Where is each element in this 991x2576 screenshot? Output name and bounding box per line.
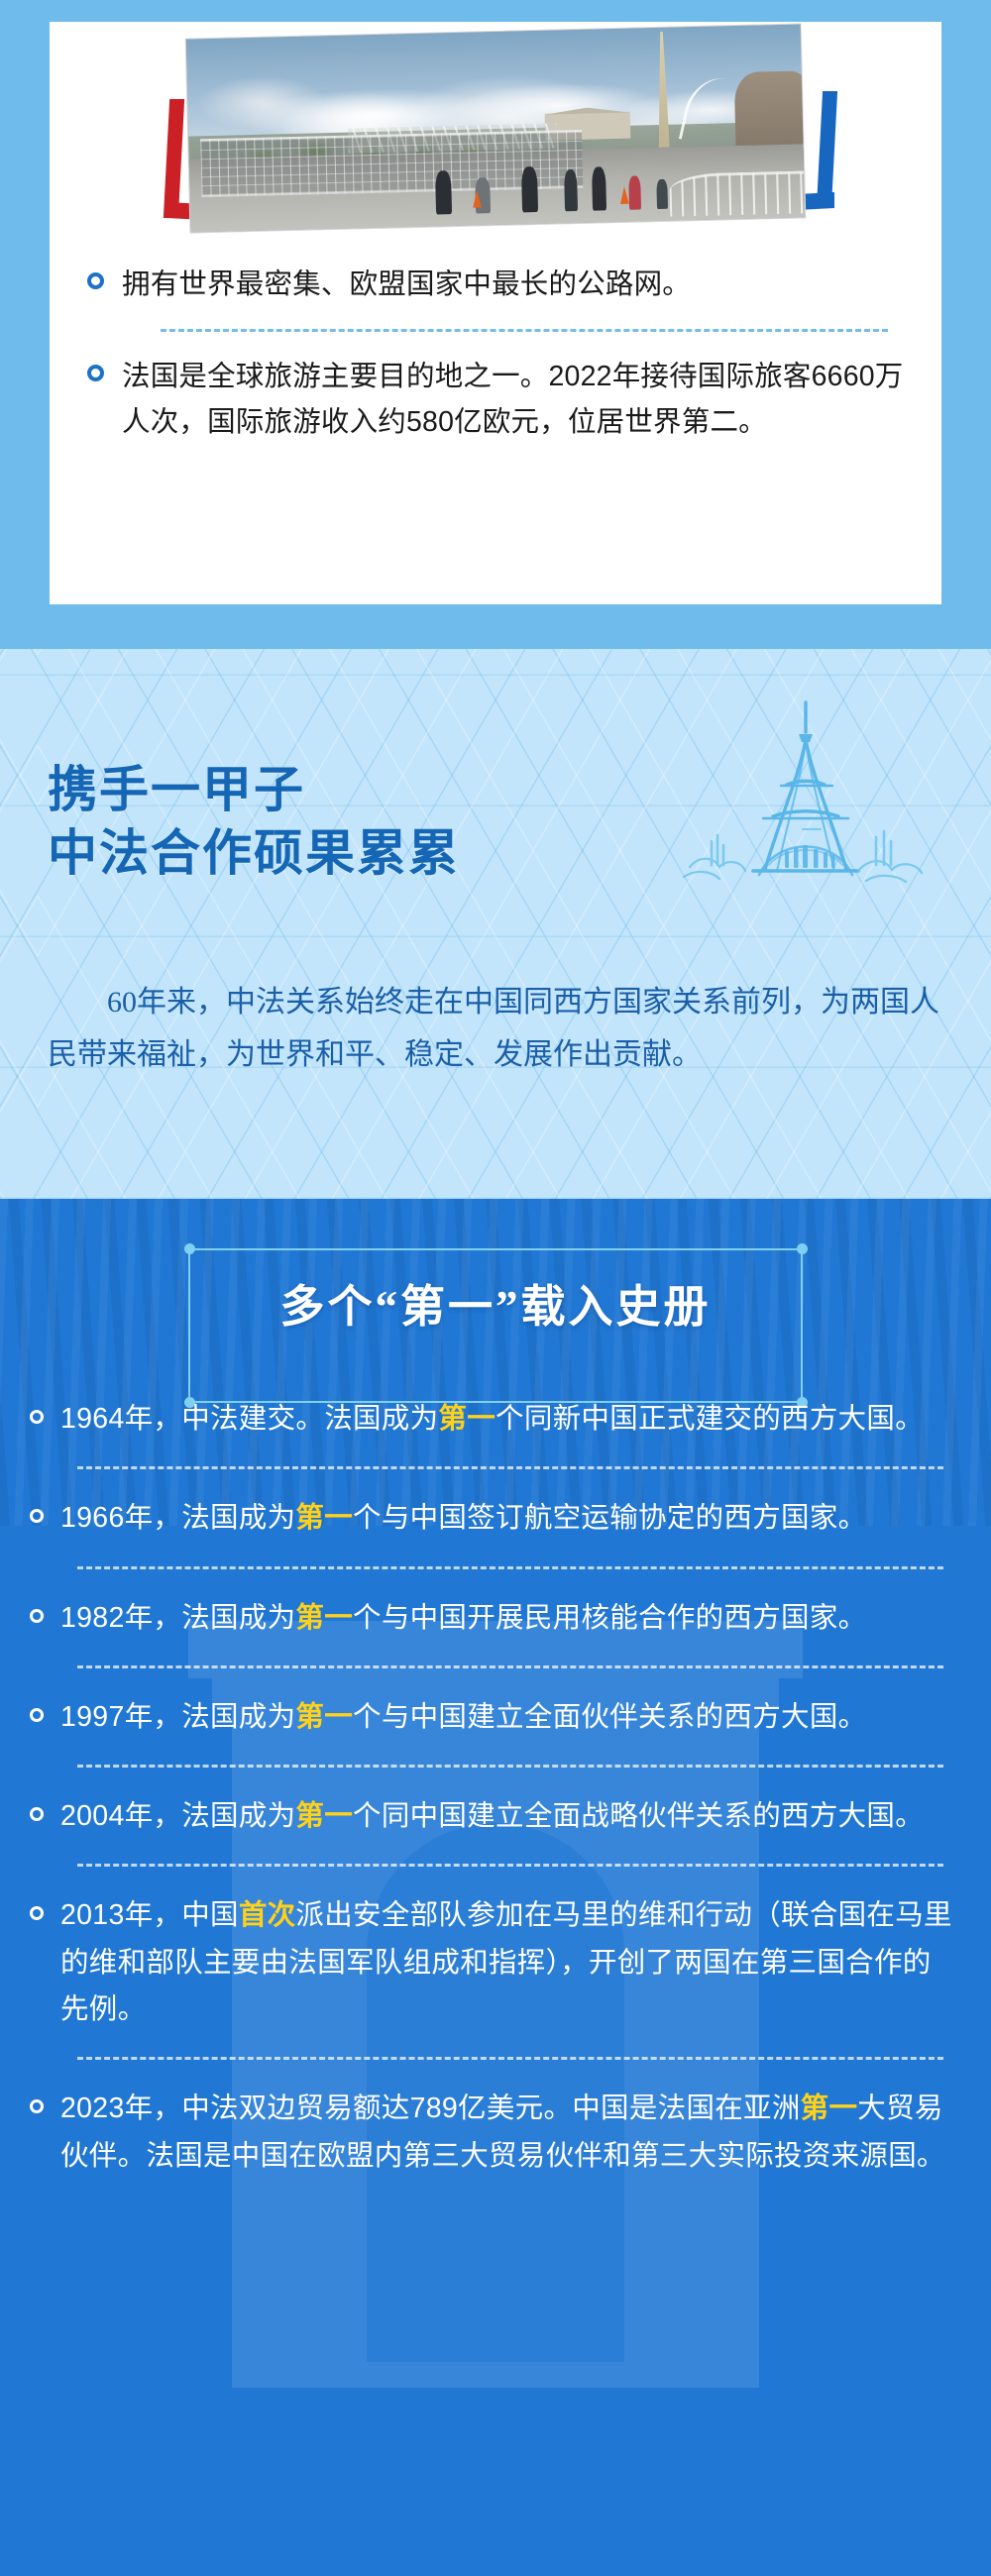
paris-concorde-photo <box>186 24 806 232</box>
photo-section: 拥有世界最密集、欧盟国家中最长的公路网。 法国是全球旅游主要目的地之一。2022… <box>0 0 991 649</box>
plain-term: 个与中国签订航空运输协定的西方国家。 <box>353 1502 866 1534</box>
highlighted-term: 第一 <box>801 2093 858 2124</box>
ring-bullet-icon <box>30 1509 44 1523</box>
dashed-divider <box>77 1466 943 1469</box>
list-item: 1966年，法国成为第一个与中国签订航空运输协定的西方国家。 <box>30 1491 957 1544</box>
plain-term: 2013年，中国 <box>60 1899 239 1931</box>
ring-bullet-icon <box>30 1906 44 1920</box>
plain-term: 1966年，法国成为 <box>60 1502 295 1534</box>
page-title: 携手一甲子 中法合作硕果累累 <box>48 758 460 885</box>
ring-bullet-icon <box>87 272 104 289</box>
highlighted-term: 第一 <box>438 1403 495 1435</box>
eiffel-tower-icon <box>682 691 930 938</box>
ring-bullet-icon <box>30 1410 44 1424</box>
list-item-label: 2004年，法国成为第一个同中国建立全面战略伙伴关系的西方大国。 <box>60 1793 924 1840</box>
list-item: 2013年，中国首次派出安全部队参加在马里的维和行动（联合国在马里的维和部队主要… <box>30 1888 957 2035</box>
list-item: 2004年，法国成为第一个同中国建立全面战略伙伴关系的西方大国。 <box>30 1789 957 1842</box>
photo-person <box>592 167 606 211</box>
dashed-divider <box>77 1765 943 1768</box>
dashed-divider <box>77 1864 943 1867</box>
ring-bullet-icon <box>30 2099 44 2113</box>
list-item: 法国是全球旅游主要目的地之一。2022年接待国际旅客6660万人次，国际旅游收入… <box>87 342 904 455</box>
plain-term: 2023年，中法双边贸易额达789亿美元。中国是法国在亚洲 <box>60 2093 801 2124</box>
photo-person <box>435 170 452 214</box>
highlighted-term: 首次 <box>239 1899 296 1931</box>
dashed-divider <box>77 2057 943 2060</box>
bullet-label: 拥有世界最密集、欧盟国家中最长的公路网。 <box>122 262 691 307</box>
firsts-list: 1964年，中法建交。法国成为第一个同新中国正式建交的西方大国。1966年，法国… <box>0 1392 991 2182</box>
plain-term: 个与中国建立全面伙伴关系的西方大国。 <box>353 1701 866 1733</box>
photo-person <box>657 179 669 209</box>
ring-bullet-icon <box>30 1708 44 1722</box>
bullet-label: 法国是全球旅游主要目的地之一。2022年接待国际旅客6660万人次，国际旅游收入… <box>122 354 904 445</box>
photo-person <box>521 166 538 212</box>
ring-bullet-icon <box>30 1807 44 1821</box>
list-item: 1982年，法国成为第一个与中国开展民用核能合作的西方国家。 <box>30 1591 957 1644</box>
plain-term: 2004年，法国成为 <box>60 1800 295 1832</box>
highlighted-term: 第一 <box>295 1502 353 1534</box>
list-item-label: 2013年，中国首次派出安全部队参加在马里的维和行动（联合国在马里的维和部队主要… <box>60 1892 957 2033</box>
list-item-label: 2023年，中法双边贸易额达789亿美元。中国是法国在亚洲第一大贸易伙伴。法国是… <box>60 2086 957 2180</box>
plain-term: 个同中国建立全面战略伙伴关系的西方大国。 <box>353 1800 924 1832</box>
photo-person <box>564 169 578 211</box>
highlighted-term: 第一 <box>295 1602 353 1634</box>
white-photo-card: 拥有世界最密集、欧盟国家中最长的公路网。 法国是全球旅游主要目的地之一。2022… <box>50 22 941 604</box>
list-item: 1964年，中法建交。法国成为第一个同新中国正式建交的西方大国。 <box>30 1392 957 1445</box>
plain-term: 1982年，法国成为 <box>60 1602 295 1634</box>
dashed-divider <box>77 1665 943 1668</box>
photo-person <box>629 176 642 210</box>
plain-term: 个与中国开展民用核能合作的西方国家。 <box>353 1602 866 1634</box>
list-item-label: 1982年，法国成为第一个与中国开展民用核能合作的西方国家。 <box>60 1595 866 1642</box>
photo-frame <box>50 22 941 250</box>
list-item: 2023年，中法双边贸易额达789亿美元。中国是法国在亚洲第一大贸易伙伴。法国是… <box>30 2082 957 2182</box>
ring-bullet-icon <box>30 1609 44 1623</box>
dashed-divider <box>161 329 888 332</box>
highlighted-term: 第一 <box>295 1800 353 1832</box>
photo-card-bullet-list: 拥有世界最密集、欧盟国家中最长的公路网。 法国是全球旅游主要目的地之一。2022… <box>50 250 941 455</box>
plain-term: 1964年，中法建交。法国成为 <box>60 1403 438 1435</box>
plain-term: 1997年，法国成为 <box>60 1701 295 1733</box>
firsts-section: 多个“第一”载入史册 1964年，中法建交。法国成为第一个同新中国正式建交的西方… <box>0 1199 991 2576</box>
hero-paragraph: 60年来，中法关系始终走在中国同西方国家关系前列，为两国人民带来福祉，为世界和平… <box>48 976 949 1082</box>
list-item-label: 1966年，法国成为第一个与中国签订航空运输协定的西方国家。 <box>60 1495 866 1542</box>
list-item-label: 1964年，中法建交。法国成为第一个同新中国正式建交的西方大国。 <box>60 1396 924 1443</box>
section-heading-block: 多个“第一”载入史册 <box>188 1270 803 1335</box>
list-item: 1997年，法国成为第一个与中国建立全面伙伴关系的西方大国。 <box>30 1690 957 1743</box>
photo-barrier <box>669 171 805 217</box>
list-item: 拥有世界最密集、欧盟国家中最长的公路网。 <box>87 250 904 317</box>
dashed-divider <box>77 1566 943 1569</box>
highlighted-term: 第一 <box>295 1701 353 1733</box>
list-item-label: 1997年，法国成为第一个与中国建立全面伙伴关系的西方大国。 <box>60 1694 866 1741</box>
ring-bullet-icon <box>87 365 104 381</box>
section-title: 多个“第一”载入史册 <box>188 1270 803 1335</box>
plain-term: 个同新中国正式建交的西方大国。 <box>495 1403 924 1435</box>
hero-section: 携手一甲子 中法合作硕果累累 60年来，中法关系始终走在中国同西方国家关系前列，… <box>0 649 991 1199</box>
